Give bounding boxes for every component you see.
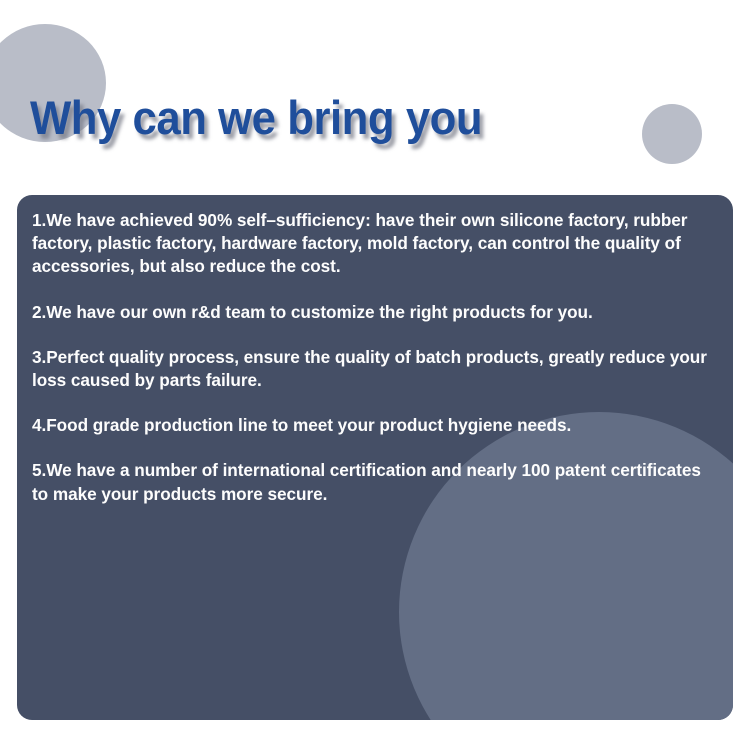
list-item: 5.We have a number of international cert…: [32, 459, 717, 505]
list-item: 3.Perfect quality process, ensure the qu…: [32, 346, 717, 392]
features-panel: 1.We have achieved 90% self–sufficiency:…: [17, 195, 733, 720]
features-list: 1.We have achieved 90% self–sufficiency:…: [17, 195, 733, 506]
page-title-line-1: Why can we bring you: [30, 92, 681, 144]
list-item: 1.We have achieved 90% self–sufficiency:…: [32, 209, 717, 279]
list-item: 4.Food grade production line to meet you…: [32, 414, 717, 437]
list-item: 2.We have our own r&d team to customize …: [32, 301, 717, 324]
promo-banner: Why can we bring you higher quality and …: [0, 0, 750, 750]
